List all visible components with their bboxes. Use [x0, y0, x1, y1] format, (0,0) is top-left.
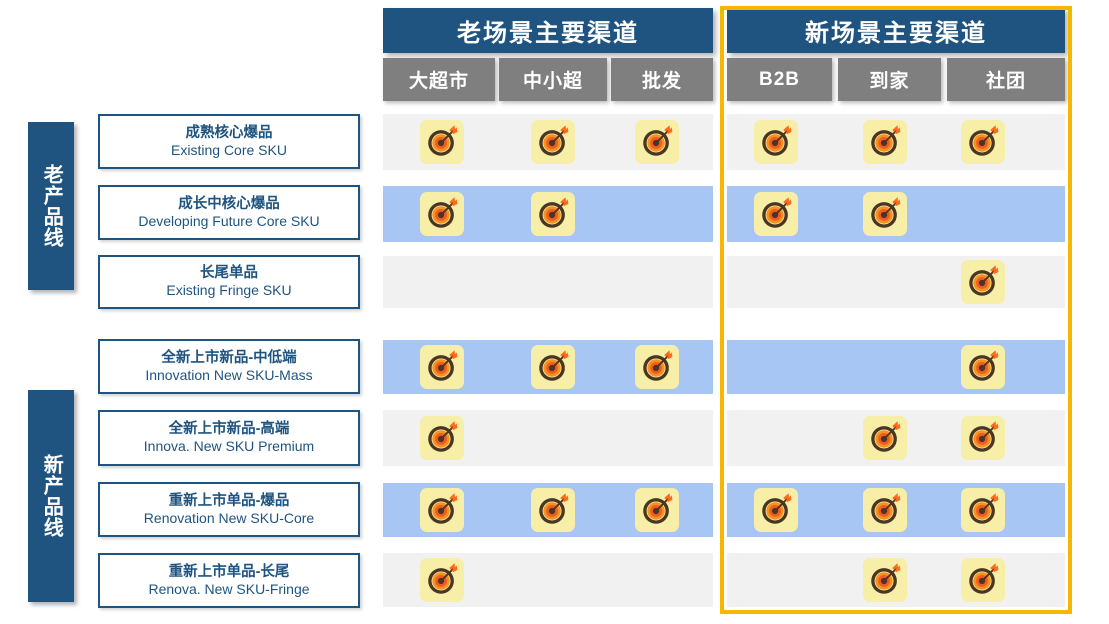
row-label-cn: 成长中核心爆品 — [178, 195, 280, 213]
target-arrow-icon — [423, 123, 461, 161]
target-arrow-icon — [638, 491, 676, 529]
target-arrow-icon — [757, 491, 795, 529]
target-icon-innovation-new-sku-premium-community-group[interactable] — [961, 416, 1005, 460]
target-arrow-icon — [423, 561, 461, 599]
row-label-en: Existing Core SKU — [171, 142, 287, 160]
target-arrow-icon — [423, 419, 461, 457]
row-label-en: Renovation New SKU-Core — [144, 510, 314, 528]
row-label-renovation-new-sku-core[interactable]: 重新上市单品-爆品Renovation New SKU-Core — [98, 482, 360, 537]
target-arrow-icon — [534, 195, 572, 233]
section-header-new-scenario: 新场景主要渠道 — [727, 8, 1065, 53]
target-arrow-icon — [866, 491, 904, 529]
row-band-existing-fringe-sku-new-scenario — [727, 256, 1065, 308]
row-label-existing-fringe-sku[interactable]: 长尾单品Existing Fringe SKU — [98, 255, 360, 309]
target-icon-renovation-new-sku-core-b2b[interactable] — [754, 488, 798, 532]
target-arrow-icon — [964, 123, 1002, 161]
target-icon-existing-fringe-sku-community-group[interactable] — [961, 260, 1005, 304]
target-icon-renovation-new-sku-core-hypermarket[interactable] — [420, 488, 464, 532]
target-arrow-icon — [866, 419, 904, 457]
target-icon-existing-core-sku-home-delivery[interactable] — [863, 120, 907, 164]
target-icon-renovation-new-sku-fringe-home-delivery[interactable] — [863, 558, 907, 602]
row-label-developing-future-core[interactable]: 成长中核心爆品Developing Future Core SKU — [98, 185, 360, 240]
row-label-existing-core-sku[interactable]: 成熟核心爆品Existing Core SKU — [98, 114, 360, 169]
target-icon-developing-future-core-hypermarket[interactable] — [420, 192, 464, 236]
target-arrow-icon — [534, 491, 572, 529]
target-icon-existing-core-sku-b2b[interactable] — [754, 120, 798, 164]
row-label-cn: 重新上市单品-长尾 — [169, 563, 290, 581]
target-arrow-icon — [423, 195, 461, 233]
row-label-cn: 成熟核心爆品 — [186, 124, 273, 142]
row-label-cn: 全新上市新品-高端 — [169, 420, 290, 438]
target-icon-innovation-new-sku-mass-small-supermarket[interactable] — [531, 345, 575, 389]
target-icon-existing-core-sku-hypermarket[interactable] — [420, 120, 464, 164]
target-icon-existing-core-sku-small-supermarket[interactable] — [531, 120, 575, 164]
target-arrow-icon — [534, 123, 572, 161]
group-label-new-product-line: 新产品线 — [28, 390, 74, 602]
target-arrow-icon — [964, 419, 1002, 457]
row-band-existing-fringe-sku-old-scenario — [383, 256, 713, 308]
column-header-home-delivery[interactable]: 到家 — [838, 58, 941, 101]
target-icon-innovation-new-sku-premium-hypermarket[interactable] — [420, 416, 464, 460]
target-arrow-icon — [964, 263, 1002, 301]
target-icon-existing-core-sku-wholesale[interactable] — [635, 120, 679, 164]
target-arrow-icon — [866, 561, 904, 599]
row-label-cn: 长尾单品 — [200, 264, 258, 282]
target-icon-renovation-new-sku-core-small-supermarket[interactable] — [531, 488, 575, 532]
target-icon-existing-core-sku-community-group[interactable] — [961, 120, 1005, 164]
target-arrow-icon — [866, 195, 904, 233]
row-label-innovation-new-sku-premium[interactable]: 全新上市新品-高端Innova. New SKU Premium — [98, 410, 360, 466]
row-label-en: Renova. New SKU-Fringe — [148, 581, 309, 599]
row-label-en: Innova. New SKU Premium — [144, 438, 314, 456]
target-arrow-icon — [638, 348, 676, 386]
target-icon-developing-future-core-small-supermarket[interactable] — [531, 192, 575, 236]
row-label-en: Developing Future Core SKU — [138, 213, 319, 231]
target-arrow-icon — [964, 561, 1002, 599]
target-arrow-icon — [964, 348, 1002, 386]
target-icon-renovation-new-sku-fringe-hypermarket[interactable] — [420, 558, 464, 602]
target-arrow-icon — [638, 123, 676, 161]
target-arrow-icon — [964, 491, 1002, 529]
group-label-old-product-line: 老产品线 — [28, 122, 74, 290]
row-label-en: Existing Fringe SKU — [166, 282, 291, 300]
target-icon-innovation-new-sku-premium-home-delivery[interactable] — [863, 416, 907, 460]
row-label-cn: 全新上市新品-中低端 — [161, 349, 296, 367]
strategy-matrix-canvas: 老产品线 新产品线 老场景主要渠道 新场景主要渠道 大超市中小超批发B2B到家社… — [0, 0, 1109, 624]
target-icon-innovation-new-sku-mass-wholesale[interactable] — [635, 345, 679, 389]
column-header-community-group[interactable]: 社团 — [947, 58, 1065, 101]
section-header-old-scenario: 老场景主要渠道 — [383, 8, 713, 53]
target-icon-renovation-new-sku-core-community-group[interactable] — [961, 488, 1005, 532]
column-header-hypermarket[interactable]: 大超市 — [383, 58, 495, 101]
target-icon-renovation-new-sku-core-wholesale[interactable] — [635, 488, 679, 532]
target-icon-renovation-new-sku-fringe-community-group[interactable] — [961, 558, 1005, 602]
row-label-innovation-new-sku-mass[interactable]: 全新上市新品-中低端Innovation New SKU-Mass — [98, 339, 360, 394]
row-band-innovation-new-sku-mass-new-scenario — [727, 340, 1065, 394]
target-arrow-icon — [423, 348, 461, 386]
row-label-renovation-new-sku-fringe[interactable]: 重新上市单品-长尾Renova. New SKU-Fringe — [98, 553, 360, 608]
row-label-cn: 重新上市单品-爆品 — [169, 492, 290, 510]
target-icon-developing-future-core-b2b[interactable] — [754, 192, 798, 236]
target-arrow-icon — [866, 123, 904, 161]
target-icon-innovation-new-sku-mass-hypermarket[interactable] — [420, 345, 464, 389]
target-arrow-icon — [534, 348, 572, 386]
column-header-small-supermarket[interactable]: 中小超 — [499, 58, 607, 101]
column-header-b2b[interactable]: B2B — [727, 58, 832, 101]
column-header-wholesale[interactable]: 批发 — [611, 58, 713, 101]
target-arrow-icon — [423, 491, 461, 529]
target-icon-developing-future-core-home-delivery[interactable] — [863, 192, 907, 236]
target-icon-innovation-new-sku-mass-community-group[interactable] — [961, 345, 1005, 389]
target-arrow-icon — [757, 123, 795, 161]
target-icon-renovation-new-sku-core-home-delivery[interactable] — [863, 488, 907, 532]
target-arrow-icon — [757, 195, 795, 233]
row-label-en: Innovation New SKU-Mass — [145, 367, 312, 385]
